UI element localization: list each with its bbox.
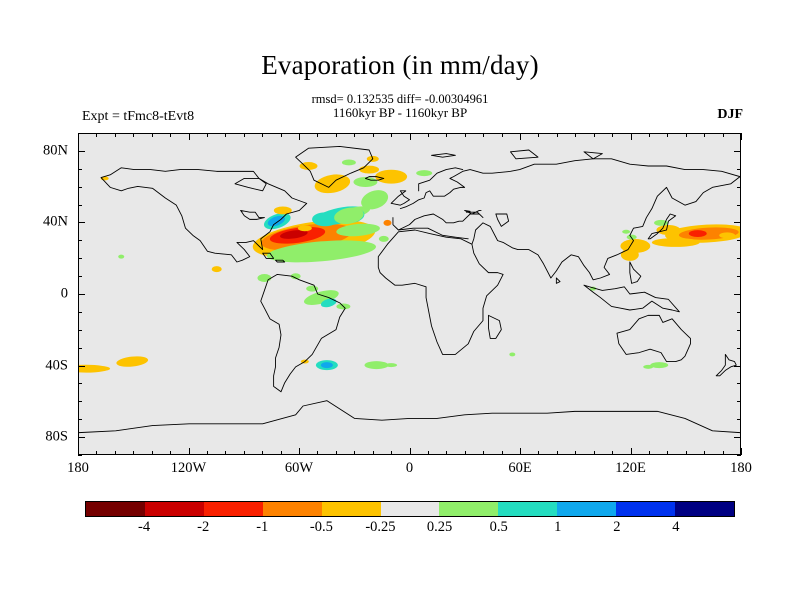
x-tick [723,451,724,455]
y-tick [734,437,741,438]
colorbar-tick-label: 2 [613,519,620,536]
y-tick [737,187,741,188]
x-tick [428,451,429,455]
x-tick [686,451,687,455]
x-tick [354,133,355,137]
x-tick [502,451,503,455]
y-tick [78,383,82,384]
x-tick [152,451,153,455]
y-tick [78,330,82,331]
x-tick [612,451,613,455]
x-tick [538,451,539,455]
coastline [235,178,266,190]
colorbar-tick-label: -1 [256,519,268,536]
y-tick [78,348,82,349]
x-tick [557,133,558,137]
y-tick [737,240,741,241]
x-tick [741,133,742,140]
anomaly-patch [212,266,222,272]
y-axis-label: 80S [20,429,68,446]
y-tick [737,419,741,420]
anomaly-patch [416,170,432,176]
x-tick [391,451,392,455]
x-tick [96,133,97,137]
anomaly-patch [364,361,388,369]
colorbar-tick-label: -0.25 [365,519,395,536]
anomaly-patch [689,230,707,237]
anomaly-patch [359,166,379,174]
x-tick [78,133,79,140]
x-tick [189,448,190,455]
y-tick [78,401,82,402]
x-tick [483,133,484,137]
x-tick [299,448,300,455]
y-tick [737,348,741,349]
x-tick [575,133,576,137]
anomaly-patch [383,220,391,226]
y-tick [737,258,741,259]
x-tick [244,451,245,455]
x-tick [170,451,171,455]
x-tick [78,448,79,455]
y-axis-label: 80N [20,142,68,159]
y-axis-label: 0 [20,286,68,303]
x-tick [649,133,650,137]
y-tick [78,205,82,206]
x-tick [520,448,521,455]
colorbar-band-0 [86,502,145,516]
x-tick [465,133,466,137]
x-axis-label: 120W [171,460,206,477]
colorbar-band-7 [498,502,557,516]
x-tick [354,451,355,455]
anomaly-patch [92,366,110,371]
y-tick [78,240,82,241]
y-tick [737,169,741,170]
anomaly-patch [321,362,333,368]
anomaly-patch [627,235,637,240]
coastline [488,315,501,338]
x-tick [704,133,705,137]
y-tick [734,222,741,223]
x-tick [667,133,668,137]
x-tick [649,451,650,455]
colorbar-band-8 [557,502,616,516]
y-tick [737,455,741,456]
x-axis-label: 60E [508,460,531,477]
experiment-label: Expt = tFmc8-tEvt8 [82,109,194,125]
y-tick [734,366,741,367]
x-tick [686,133,687,137]
x-tick [262,133,263,137]
y-tick [78,419,82,420]
map-canvas [79,134,740,454]
x-tick [244,133,245,137]
x-tick [189,133,190,140]
x-tick [336,133,337,137]
y-tick [734,294,741,295]
y-tick [78,222,85,223]
y-tick [78,276,82,277]
x-tick [446,451,447,455]
coastline [393,210,483,230]
x-tick [723,133,724,137]
x-tick [667,451,668,455]
x-tick [170,133,171,137]
x-tick [115,133,116,137]
y-tick [737,383,741,384]
x-tick [446,133,447,137]
x-tick [317,451,318,455]
colorbar-band-3 [263,502,322,516]
x-axis-label: 60W [285,460,313,477]
anomaly-patch [342,159,356,165]
x-tick [520,133,521,140]
x-tick [594,133,595,137]
x-tick [281,451,282,455]
x-tick [704,451,705,455]
x-tick [133,451,134,455]
y-tick [737,276,741,277]
anomaly-patch [622,230,630,234]
page-title: Evaporation (in mm/day) [0,50,800,81]
coastline [391,191,409,205]
coastline [630,262,641,283]
anomaly-patch [379,236,389,242]
y-tick [78,151,85,152]
x-tick [225,133,226,137]
y-tick [78,455,82,456]
anomaly-patch [656,225,680,235]
coastline [400,159,740,209]
coastline [496,214,509,226]
y-tick [737,312,741,313]
coastline [617,315,690,361]
y-tick [737,401,741,402]
anomaly-patch [298,225,312,231]
map-plot-area [78,133,741,455]
x-tick [557,451,558,455]
season-label: DJF [717,107,743,123]
coastline [432,154,456,158]
anomaly-patch [719,232,735,238]
colorbar [85,501,735,517]
x-tick [373,451,374,455]
colorbar-band-1 [145,502,204,516]
y-axis-label: 40N [20,214,68,231]
x-tick [612,133,613,137]
x-tick [207,451,208,455]
coastline [510,150,538,159]
x-tick [373,133,374,137]
x-tick [281,133,282,137]
colorbar-tick-label: -2 [197,519,209,536]
x-tick [631,133,632,140]
colorbar-tick-label: 1 [554,519,561,536]
y-tick [78,169,82,170]
colorbar-band-10 [675,502,734,516]
x-axis-label: 0 [406,460,413,477]
colorbar-band-4 [322,502,381,516]
y-tick [78,294,85,295]
coastline [584,152,602,159]
coastline [241,210,265,219]
x-tick [538,133,539,137]
x-tick [483,451,484,455]
anomaly-patch [118,255,124,259]
x-tick [594,451,595,455]
y-tick [78,258,82,259]
colorbar-tick-label: 0.25 [427,519,452,536]
x-tick [631,448,632,455]
y-tick [737,133,741,134]
y-tick [78,437,85,438]
y-tick [78,312,82,313]
colorbar-tick-label: -4 [138,519,150,536]
x-axis-label: 180 [730,460,752,477]
colorbar-band-9 [616,502,675,516]
x-tick [115,451,116,455]
x-tick [428,133,429,137]
anomaly-patch [116,355,149,368]
y-axis-label: 40S [20,357,68,374]
x-tick [391,133,392,137]
x-tick [96,451,97,455]
x-tick [502,133,503,137]
colorbar-band-2 [204,502,263,516]
coastline [398,228,468,239]
anomaly-patch [652,238,700,247]
x-tick [152,133,153,137]
x-tick [133,133,134,137]
x-tick [225,451,226,455]
y-tick [78,366,85,367]
anomaly-patch [375,170,407,184]
anomaly-patch [257,274,271,282]
x-tick [741,448,742,455]
y-tick [737,205,741,206]
x-tick [575,451,576,455]
coastline [556,278,560,283]
x-tick [262,451,263,455]
anomaly-patch [621,249,639,261]
x-axis-label: 180 [67,460,89,477]
x-tick [299,133,300,140]
x-tick [410,133,411,140]
y-tick [78,187,82,188]
x-tick [207,133,208,137]
coastline [79,401,740,433]
x-axis-label: 120E [615,460,646,477]
colorbar-band-5 [381,502,440,516]
y-tick [734,151,741,152]
anomaly-patch [643,365,653,369]
colorbar-tick-label: 0.5 [490,519,508,536]
x-tick [317,133,318,137]
anomaly-patch [385,363,397,367]
colorbar-tick-label: -0.5 [310,519,333,536]
coastline [378,230,503,354]
x-tick [410,448,411,455]
y-tick [737,330,741,331]
anomaly-patch [509,352,515,356]
coastline [584,285,679,312]
colorbar-tick-label: 4 [672,519,679,536]
colorbar-band-6 [439,502,498,516]
x-tick [465,451,466,455]
y-tick [78,133,82,134]
x-tick [336,451,337,455]
